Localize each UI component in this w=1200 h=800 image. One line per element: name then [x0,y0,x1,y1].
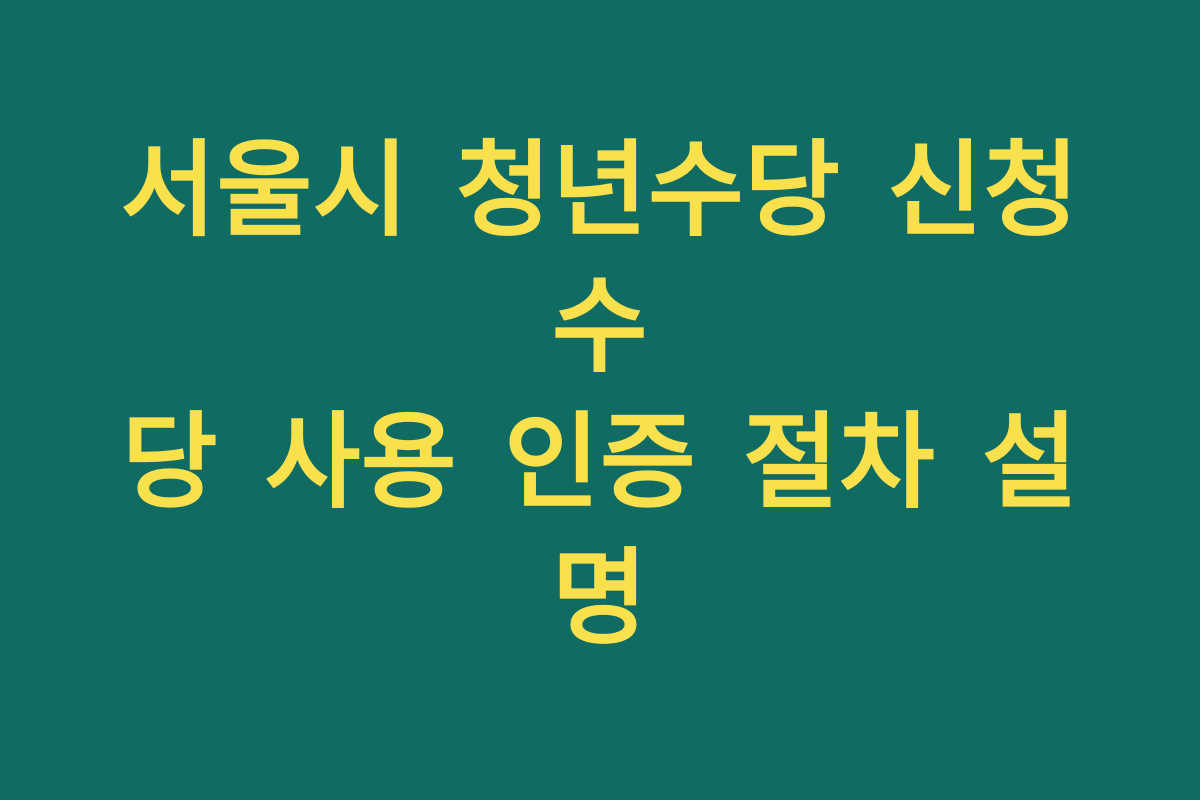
headline-line-1: 서울시 청년수당 신청 수 [80,122,1120,394]
headline-line-2: 당 사용 인증 절차 설명 [80,394,1120,666]
page-title: 서울시 청년수당 신청 수 당 사용 인증 절차 설명 [80,122,1120,666]
poster-canvas: 서울시 청년수당 신청 수 당 사용 인증 절차 설명 [0,0,1200,800]
